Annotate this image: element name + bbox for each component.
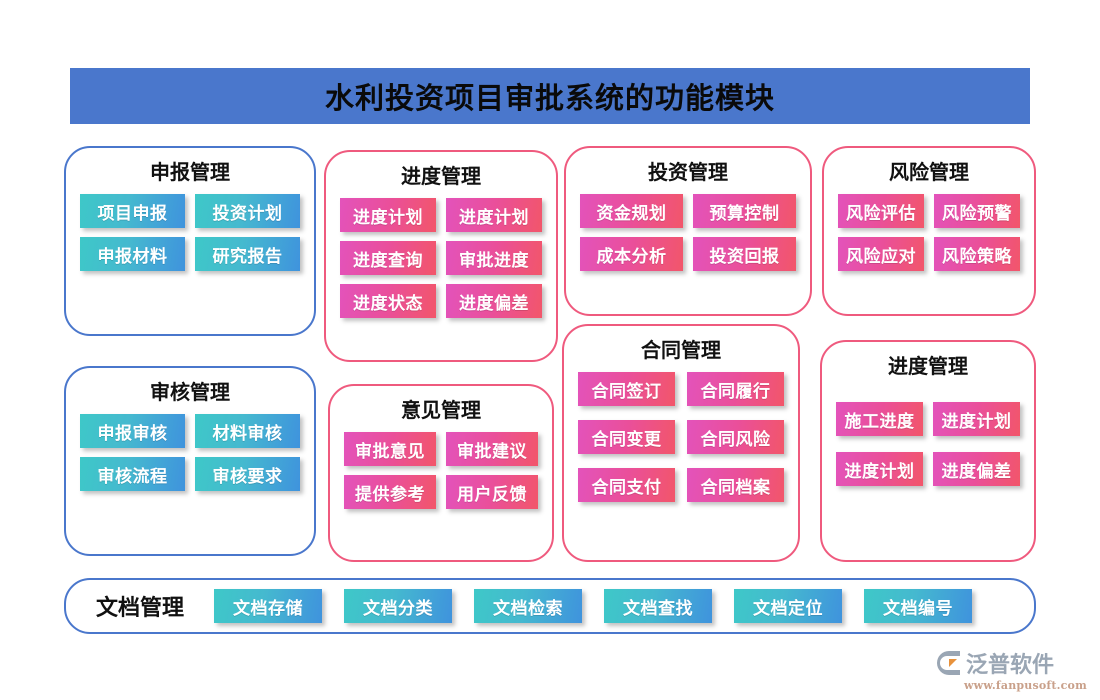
chip-cost-analysis[interactable]: 成本分析 (580, 237, 683, 271)
chip-construction-progress[interactable]: 施工进度 (836, 402, 923, 436)
card-title: 合同管理 (641, 336, 721, 364)
chip-risk-assessment[interactable]: 风险评估 (838, 194, 924, 228)
chip-grid: 施工进度 进度计划 进度计划 进度偏差 (822, 402, 1034, 486)
card-opinion[interactable]: 意见管理 审批意见 审批建议 提供参考 用户反馈 (328, 384, 554, 562)
card-title: 审核管理 (150, 378, 230, 406)
chip-research-report[interactable]: 研究报告 (195, 237, 300, 271)
chip-progress-plan-1[interactable]: 进度计划 (933, 402, 1020, 436)
card-progress-top[interactable]: 进度管理 进度计划 进度计划 进度查询 审批进度 进度状态 进度偏差 (324, 150, 558, 362)
chip-progress-status[interactable]: 进度状态 (340, 284, 436, 318)
chip-fund-planning[interactable]: 资金规划 (580, 194, 683, 228)
chip-grid: 申报审核 材料审核 审核流程 审核要求 (66, 414, 314, 491)
chip-review-process[interactable]: 审核流程 (80, 457, 185, 491)
chip-grid: 风险评估 风险预警 风险应对 风险策略 (824, 194, 1034, 271)
card-contract[interactable]: 合同管理 合同签订 合同履行 合同变更 合同风险 合同支付 合同档案 (562, 324, 800, 562)
chip-progress-plan-2[interactable]: 进度计划 (836, 452, 923, 486)
chip-contract-performance[interactable]: 合同履行 (687, 372, 784, 406)
chip-document-number[interactable]: 文档编号 (864, 589, 972, 623)
fanpu-logo-icon (936, 650, 962, 676)
chip-material-review[interactable]: 材料审核 (195, 414, 300, 448)
chip-investment-plan[interactable]: 投资计划 (195, 194, 300, 228)
chip-progress-query[interactable]: 进度查询 (340, 241, 436, 275)
card-declaration[interactable]: 申报管理 项目申报 投资计划 申报材料 研究报告 (64, 146, 316, 336)
vendor-logo: 泛普软件 www.fanpusoft.com (936, 646, 1086, 692)
chip-declaration-materials[interactable]: 申报材料 (80, 237, 185, 271)
card-progress-right[interactable]: 进度管理 施工进度 进度计划 进度计划 进度偏差 (820, 340, 1036, 562)
card-title: 意见管理 (401, 396, 481, 424)
chip-contract-signing[interactable]: 合同签订 (578, 372, 675, 406)
chip-user-feedback[interactable]: 用户反馈 (446, 475, 538, 509)
chip-risk-strategy[interactable]: 风险策略 (934, 237, 1020, 271)
card-title: 进度管理 (401, 162, 481, 190)
chip-grid: 资金规划 预算控制 成本分析 投资回报 (566, 194, 810, 271)
chip-budget-control[interactable]: 预算控制 (693, 194, 796, 228)
chip-document-locate[interactable]: 文档定位 (734, 589, 842, 623)
chip-contract-change[interactable]: 合同变更 (578, 420, 675, 454)
chip-risk-warning[interactable]: 风险预警 (934, 194, 1020, 228)
document-management-bar[interactable]: 文档管理 文档存储 文档分类 文档检索 文档查找 文档定位 文档编号 (64, 578, 1036, 634)
logo-name: 泛普软件 (966, 647, 1054, 679)
chip-approval-opinion[interactable]: 审批意见 (344, 432, 436, 466)
chip-grid: 审批意见 审批建议 提供参考 用户反馈 (330, 432, 552, 509)
card-review[interactable]: 审核管理 申报审核 材料审核 审核流程 审核要求 (64, 366, 316, 556)
chip-review-requirements[interactable]: 审核要求 (195, 457, 300, 491)
chip-document-retrieval[interactable]: 文档检索 (474, 589, 582, 623)
chip-grid: 合同签订 合同履行 合同变更 合同风险 合同支付 合同档案 (564, 372, 798, 502)
logo-url: www.fanpusoft.com (964, 679, 1087, 692)
chip-project-declaration[interactable]: 项目申报 (80, 194, 185, 228)
card-title: 进度管理 (888, 352, 968, 380)
chip-progress-plan-1[interactable]: 进度计划 (340, 198, 436, 232)
card-risk[interactable]: 风险管理 风险评估 风险预警 风险应对 风险策略 (822, 146, 1036, 316)
document-bar-title: 文档管理 (96, 590, 184, 622)
chip-declaration-review[interactable]: 申报审核 (80, 414, 185, 448)
chip-grid: 项目申报 投资计划 申报材料 研究报告 (66, 194, 314, 271)
chip-document-storage[interactable]: 文档存储 (214, 589, 322, 623)
chip-approval-suggestion[interactable]: 审批建议 (446, 432, 538, 466)
diagram-canvas: 水利投资项目审批系统的功能模块 申报管理 项目申报 投资计划 申报材料 研究报告… (0, 0, 1100, 700)
page-title: 水利投资项目审批系统的功能模块 (325, 75, 775, 117)
logo-row: 泛普软件 (936, 647, 1054, 679)
chip-progress-deviation[interactable]: 进度偏差 (933, 452, 1020, 486)
card-title: 申报管理 (150, 158, 230, 186)
card-investment[interactable]: 投资管理 资金规划 预算控制 成本分析 投资回报 (564, 146, 812, 316)
chip-investment-return[interactable]: 投资回报 (693, 237, 796, 271)
chip-progress-deviation[interactable]: 进度偏差 (446, 284, 542, 318)
chip-risk-response[interactable]: 风险应对 (838, 237, 924, 271)
card-title: 风险管理 (889, 158, 969, 186)
page-title-banner: 水利投资项目审批系统的功能模块 (70, 68, 1030, 124)
chip-provide-reference[interactable]: 提供参考 (344, 475, 436, 509)
chip-contract-archive[interactable]: 合同档案 (687, 468, 784, 502)
chip-contract-risk[interactable]: 合同风险 (687, 420, 784, 454)
chip-document-classification[interactable]: 文档分类 (344, 589, 452, 623)
chip-document-search[interactable]: 文档查找 (604, 589, 712, 623)
chip-grid: 进度计划 进度计划 进度查询 审批进度 进度状态 进度偏差 (326, 198, 556, 318)
chip-progress-plan-2[interactable]: 进度计划 (446, 198, 542, 232)
chip-approval-progress[interactable]: 审批进度 (446, 241, 542, 275)
chip-contract-payment[interactable]: 合同支付 (578, 468, 675, 502)
card-title: 投资管理 (648, 158, 728, 186)
